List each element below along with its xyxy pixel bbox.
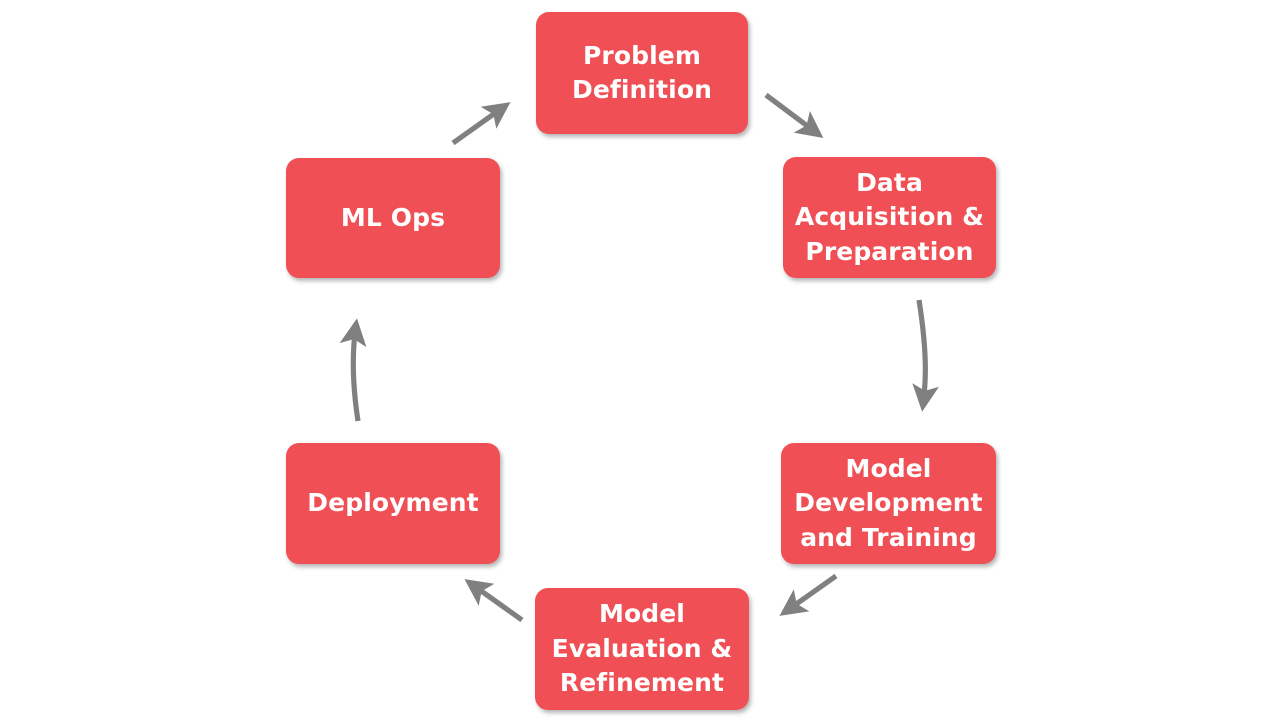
arrow-mlops-to-problem [453,106,505,143]
node-data-acquisition-preparation[interactable]: Data Acquisition & Preparation [783,157,996,278]
arrow-modeleval-to-deployment [470,583,522,620]
node-deployment-label: Deployment [307,486,478,521]
arrow-deployment-to-mlops [353,325,358,421]
node-data-acquisition-preparation-label: Data Acquisition & Preparation [795,166,984,270]
node-model-development-training[interactable]: Model Development and Training [781,443,996,564]
node-ml-ops[interactable]: ML Ops [286,158,500,278]
arrow-data-to-modeldev [919,300,925,405]
node-model-evaluation-refinement[interactable]: Model Evaluation & Refinement [535,588,749,710]
diagram-canvas: Problem Definition Data Acquisition & Pr… [0,0,1280,720]
node-model-evaluation-refinement-label: Model Evaluation & Refinement [552,597,733,701]
node-model-development-training-label: Model Development and Training [794,452,982,556]
node-problem-definition-label: Problem Definition [572,39,712,108]
arrow-modeldev-to-modeleval [785,576,836,612]
arrow-problem-to-data [766,95,818,134]
node-deployment[interactable]: Deployment [286,443,500,564]
node-problem-definition[interactable]: Problem Definition [536,12,748,134]
node-ml-ops-label: ML Ops [341,201,445,236]
